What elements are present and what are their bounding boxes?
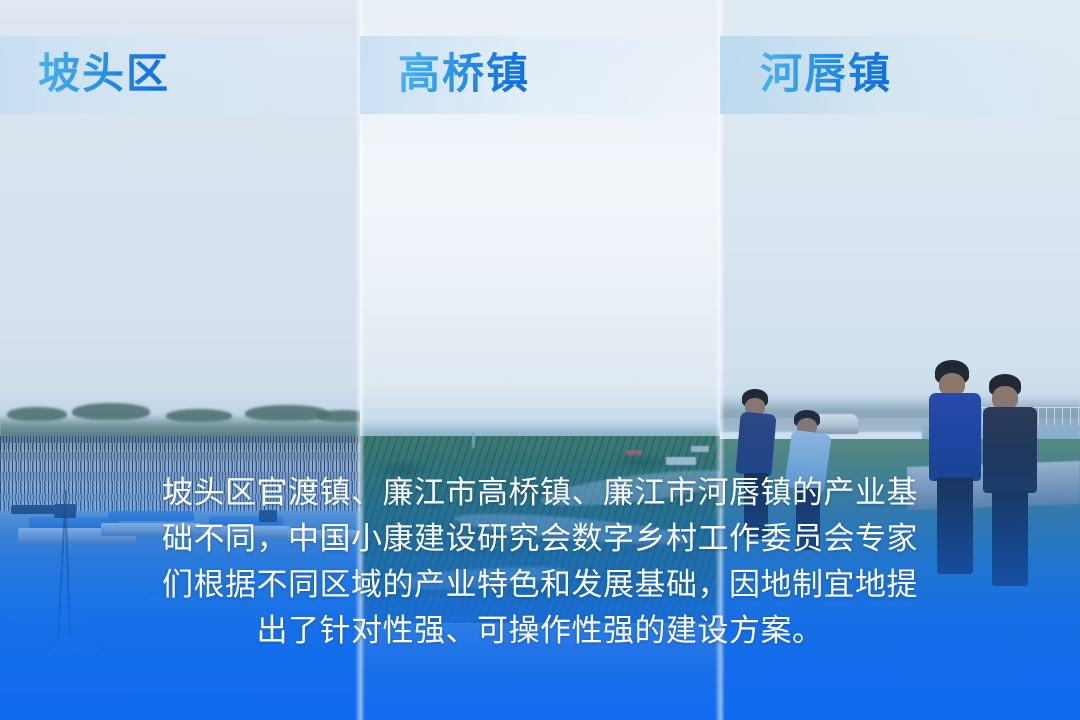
panel-gaoqiao bbox=[360, 0, 720, 720]
torso bbox=[983, 407, 1037, 493]
boat-hull bbox=[202, 526, 294, 538]
panel-title-potou: 坡头区 bbox=[38, 44, 170, 104]
farm-building bbox=[691, 446, 709, 452]
water-ripple bbox=[144, 598, 206, 600]
boat-hull bbox=[101, 523, 205, 536]
panel-title-hechun: 河唇镇 bbox=[760, 44, 892, 104]
boat-cabin bbox=[259, 510, 277, 522]
water-ripple bbox=[50, 648, 102, 650]
utility-tower bbox=[472, 432, 475, 448]
torso bbox=[735, 411, 776, 476]
image-canvas: 坡头区 高桥镇 河唇镇 坡头区官渡镇、廉江市高桥镇、廉江市河唇镇的产业基 础不同… bbox=[0, 0, 1080, 720]
farm-building bbox=[666, 457, 696, 465]
legs bbox=[992, 490, 1028, 586]
boat-canopy bbox=[108, 511, 194, 521]
panel-title-gaoqiao: 高桥镇 bbox=[398, 44, 530, 104]
legs bbox=[796, 488, 820, 550]
field-to-water-fade bbox=[360, 598, 720, 720]
oyster-rack-row bbox=[0, 461, 360, 472]
farm-building bbox=[626, 450, 642, 455]
panel-potou bbox=[0, 0, 360, 720]
oyster-rack-row bbox=[0, 443, 360, 452]
boat-hull bbox=[288, 530, 360, 541]
legs bbox=[744, 473, 768, 539]
oyster-rack-row bbox=[0, 481, 360, 494]
torso bbox=[929, 393, 981, 481]
panel-hechun bbox=[720, 0, 1080, 720]
legs bbox=[937, 478, 973, 574]
panel-strip bbox=[0, 0, 1080, 720]
